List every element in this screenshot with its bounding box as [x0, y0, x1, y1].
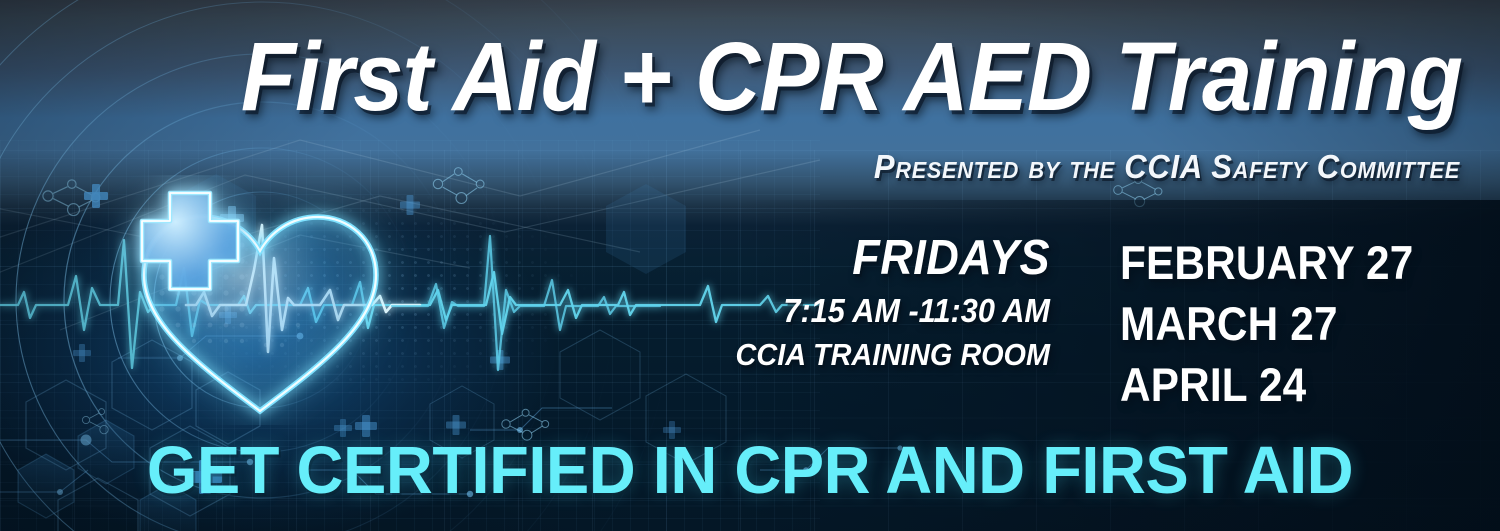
date-item: FEBRUARY 27 [1120, 232, 1453, 293]
schedule-block: FRIDAYS 7:15 AM -11:30 AM CCIA TRAINING … [620, 234, 1050, 375]
call-to-action-headline: GET CERTIFIED IN CPR AND FIRST AID [23, 437, 1478, 504]
page-title: First Aid + CPR AED Training [102, 28, 1462, 125]
date-item: APRIL 24 [1120, 354, 1453, 415]
schedule-day: FRIDAYS [654, 234, 1050, 284]
schedule-location: CCIA TRAINING ROOM [650, 334, 1050, 376]
promo-banner: First Aid + CPR AED Training Presented b… [0, 0, 1500, 531]
dates-list: FEBRUARY 27 MARCH 27 APRIL 24 [1120, 232, 1490, 415]
date-item: MARCH 27 [1120, 293, 1453, 354]
glowing-heart-outline [52, 175, 472, 425]
schedule-time: 7:15 AM -11:30 AM [650, 288, 1050, 334]
heart-graphic [52, 175, 472, 425]
page-subtitle: Presented by the CCIA Safety Committee [88, 150, 1460, 183]
